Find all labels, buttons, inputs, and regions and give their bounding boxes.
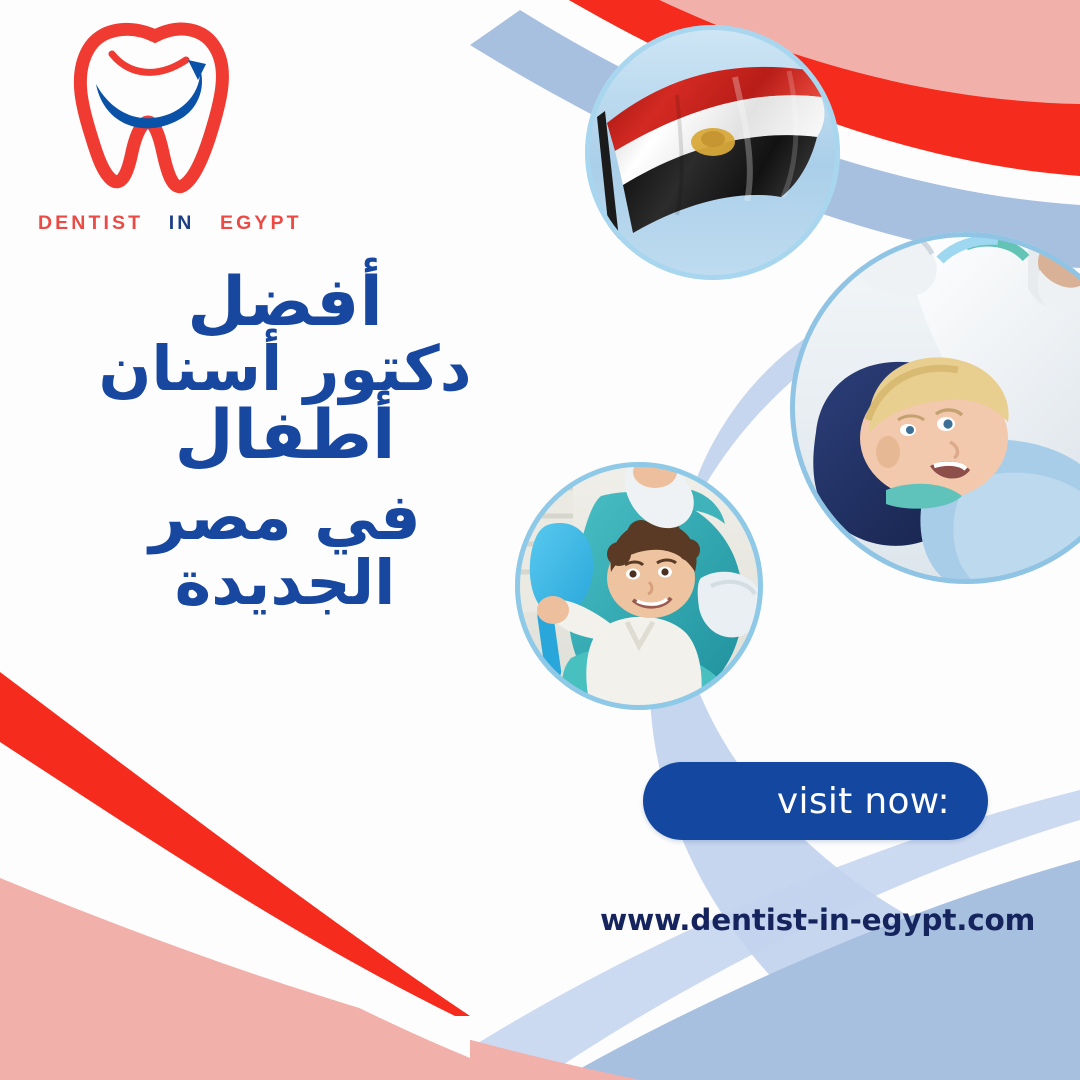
headline-line-2: دكتور أسنان [70, 337, 500, 400]
wordmark-dentist: DENTIST [38, 212, 143, 234]
brand-wordmark: DENTIST IN EGYPT [38, 212, 288, 235]
poster-canvas: DENTIST IN EGYPT أفضل دكتور أسنان أطفال … [0, 0, 1080, 1080]
wordmark-in: IN [169, 212, 195, 234]
brand-logo[interactable]: DENTIST IN EGYPT [38, 22, 288, 247]
headline-line-5: الجديدة [70, 551, 500, 614]
website-url[interactable]: www.dentist-in-egypt.com [600, 903, 1000, 937]
headline-line-1: أفضل [70, 268, 500, 337]
visit-now-button[interactable]: visit now: [643, 762, 988, 840]
visit-now-label: visit now: [777, 781, 950, 822]
page-title: أفضل دكتور أسنان أطفال في مصر الجديدة [70, 268, 500, 614]
headline-line-3: أطفال [70, 401, 500, 470]
wordmark-egypt: EGYPT [220, 212, 302, 234]
tooth-with-smile-swoosh-icon [60, 22, 250, 202]
egypt-flag-photo-ring [585, 25, 840, 280]
headline-line-4: في مصر [70, 486, 500, 551]
boy-holding-mirror-photo-ring [515, 462, 763, 710]
